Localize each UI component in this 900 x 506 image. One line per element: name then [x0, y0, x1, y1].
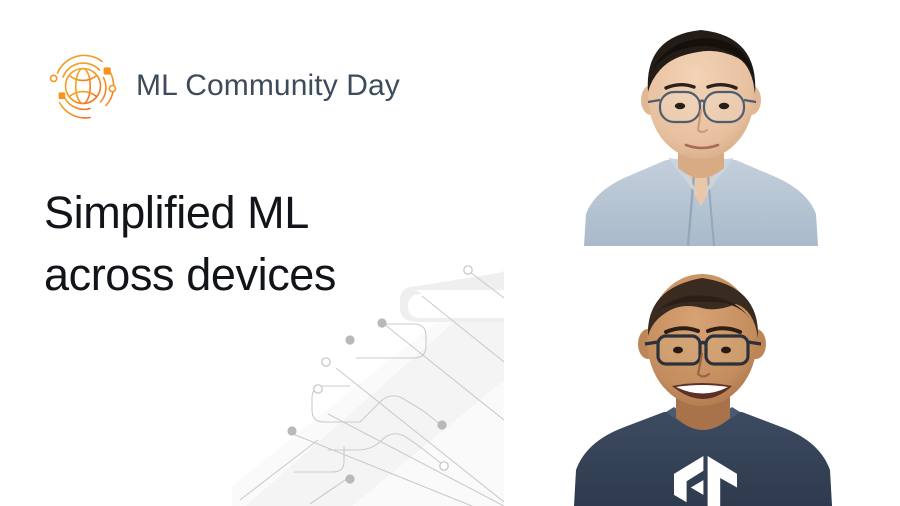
speaker-photo-bottom — [556, 252, 856, 506]
page-title-line-1: Simplified ML — [44, 182, 514, 244]
presentation-slide: ML Community Day Simplified ML across de… — [0, 0, 900, 506]
circuit-line-group — [240, 272, 504, 506]
brand-title: ML Community Day — [136, 71, 400, 101]
page-title: Simplified ML across devices — [44, 182, 514, 306]
speaker-photo-top — [556, 0, 846, 246]
brand-lockup: ML Community Day — [44, 47, 400, 125]
page-title-line-2: across devices — [44, 244, 514, 306]
globe-orbit-icon — [44, 47, 122, 125]
